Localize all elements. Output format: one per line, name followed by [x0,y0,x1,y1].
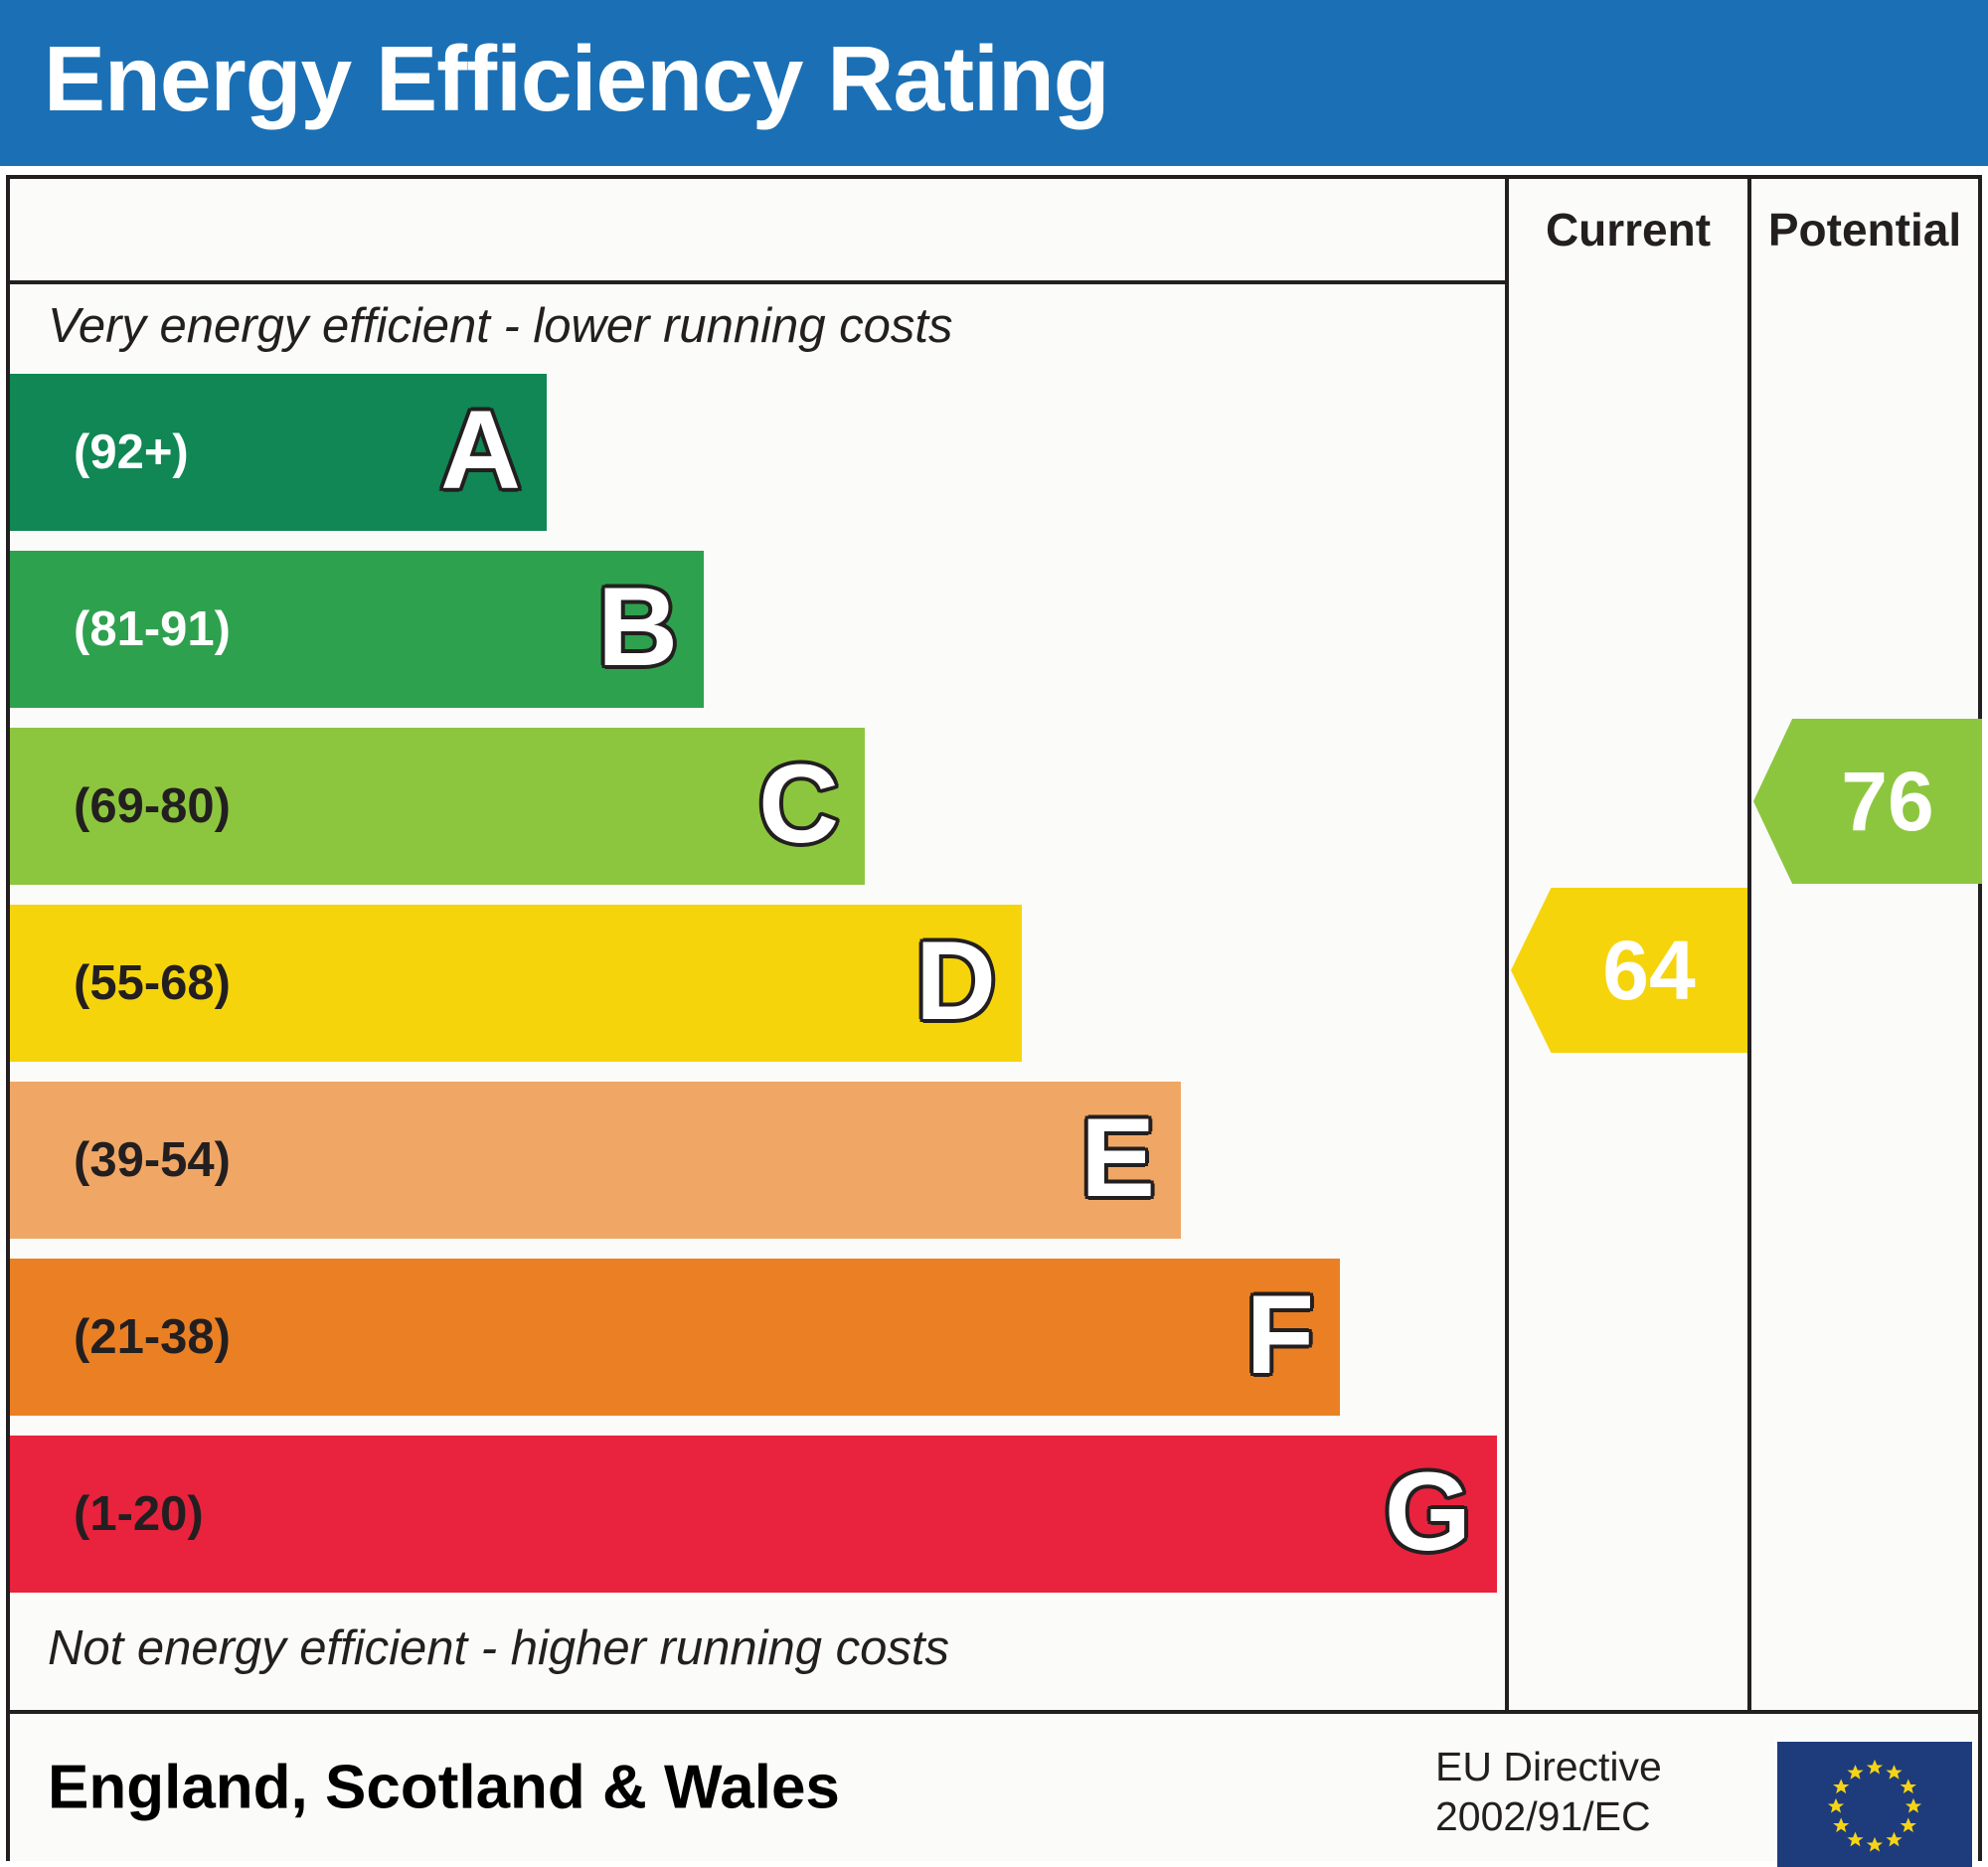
footer-row: England, Scotland & Wales EU Directive 2… [10,1714,1978,1861]
band-e-range: (39-54) [74,1132,231,1188]
band-a-range: (92+) [74,424,189,480]
current-rating-marker: 64 [1511,888,1747,1053]
band-b: (81-91) B [10,551,704,708]
title-bar: Energy Efficiency Rating [0,0,1988,166]
band-list: (92+) A (81-91) B (69-80) C (55-68) D (3… [10,374,1505,1616]
note-not-efficient: Not energy efficient - higher running co… [48,1620,949,1676]
band-d: (55-68) D [10,905,1022,1062]
band-c: (69-80) C [10,728,865,885]
rating-table: Current Potential Very energy efficient … [6,175,1982,1861]
column-divider-current [1505,179,1509,1710]
note-very-efficient: Very energy efficient - lower running co… [48,298,953,354]
band-f: (21-38) F [10,1259,1340,1416]
band-a: (92+) A [10,374,547,531]
band-f-range: (21-38) [74,1309,231,1365]
energy-efficiency-certificate: Energy Efficiency Rating Current Potenti… [0,0,1988,1867]
band-g: (1-20) G [10,1436,1497,1593]
band-d-range: (55-68) [74,955,231,1011]
potential-rating-marker: 76 [1753,719,1982,884]
band-d-letter: D [915,926,996,1037]
eu-directive-text: EU Directive 2002/91/EC [1435,1742,1662,1841]
header-row-divider [10,280,1505,284]
column-header-potential: Potential [1751,179,1978,280]
band-e-letter: E [1080,1103,1155,1214]
band-b-range: (81-91) [74,601,231,657]
band-f-letter: F [1246,1279,1314,1391]
band-g-range: (1-20) [74,1486,204,1542]
band-e: (39-54) E [10,1082,1181,1239]
band-a-letter: A [440,395,521,506]
column-header-current: Current [1509,179,1747,280]
eu-directive-line1: EU Directive [1435,1742,1662,1791]
band-g-letter: G [1385,1456,1471,1568]
eu-directive-line2: 2002/91/EC [1435,1791,1662,1841]
region-label: England, Scotland & Wales [48,1753,840,1823]
column-divider-potential [1747,179,1751,1710]
band-c-letter: C [758,749,839,860]
band-c-range: (69-80) [74,778,231,834]
eu-flag-icon [1775,1740,1974,1867]
band-b-letter: B [597,572,678,683]
page-title: Energy Efficiency Rating [44,24,1109,133]
